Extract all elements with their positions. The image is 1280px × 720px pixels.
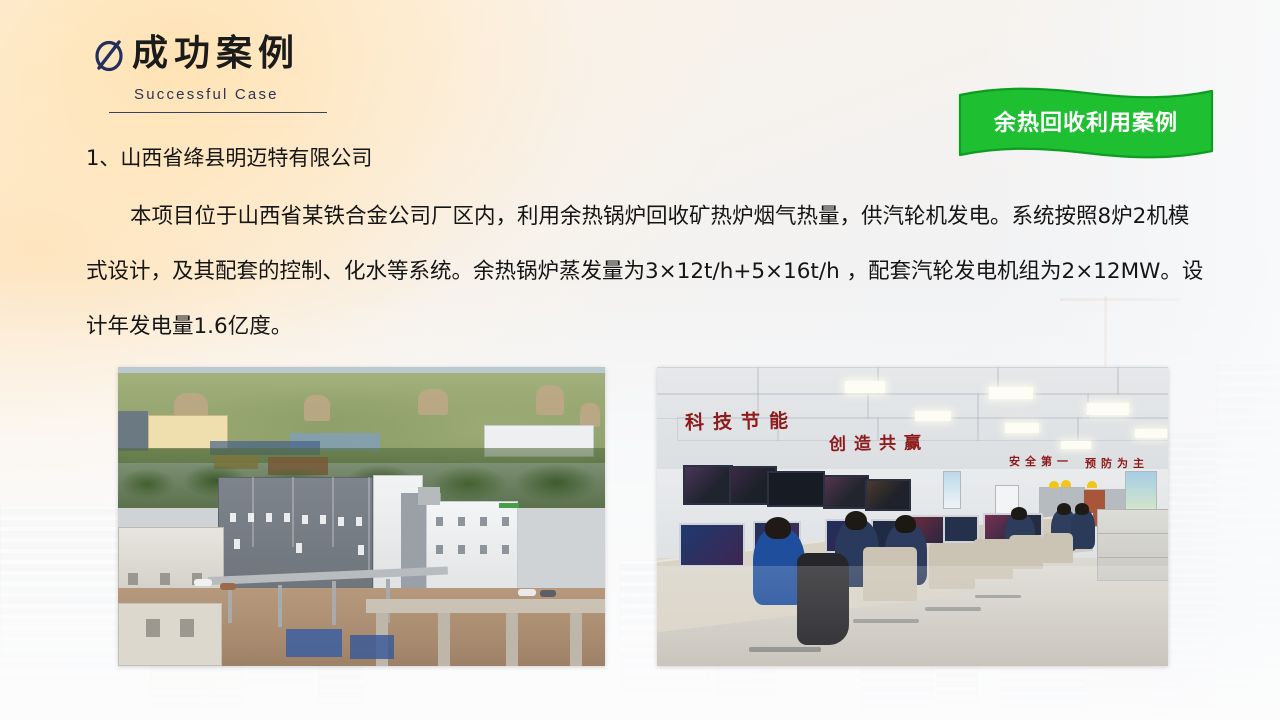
body-paragraph: 本项目位于山西省某铁合金公司厂区内，利用余热锅炉回收矿热炉烟气热量，供汽轮机发电… [86,189,1206,354]
page-subtitle: Successful Case [134,86,327,103]
page-title: 成功案例 [132,36,300,72]
ribbon-label: 余热回收利用案例 [958,105,1214,137]
slide-title-block: 成功案例 Successful Case [92,34,327,113]
slashed-circle-icon [92,34,126,74]
slide-body: 1、山西省绛县明迈特有限公司 本项目位于山西省某铁合金公司厂区内，利用余热锅炉回… [86,143,1206,354]
body-heading: 1、山西省绛县明迈特有限公司 [86,143,1206,173]
slide-canvas: 成功案例 Successful Case 余热回收利用案例 1、山西省绛县明迈特… [0,0,1280,720]
control-room-photo: 科技节能 创造共赢 安全第一 预防为主 [657,367,1168,666]
title-divider [109,112,327,113]
plant-exterior-photo [118,367,605,666]
